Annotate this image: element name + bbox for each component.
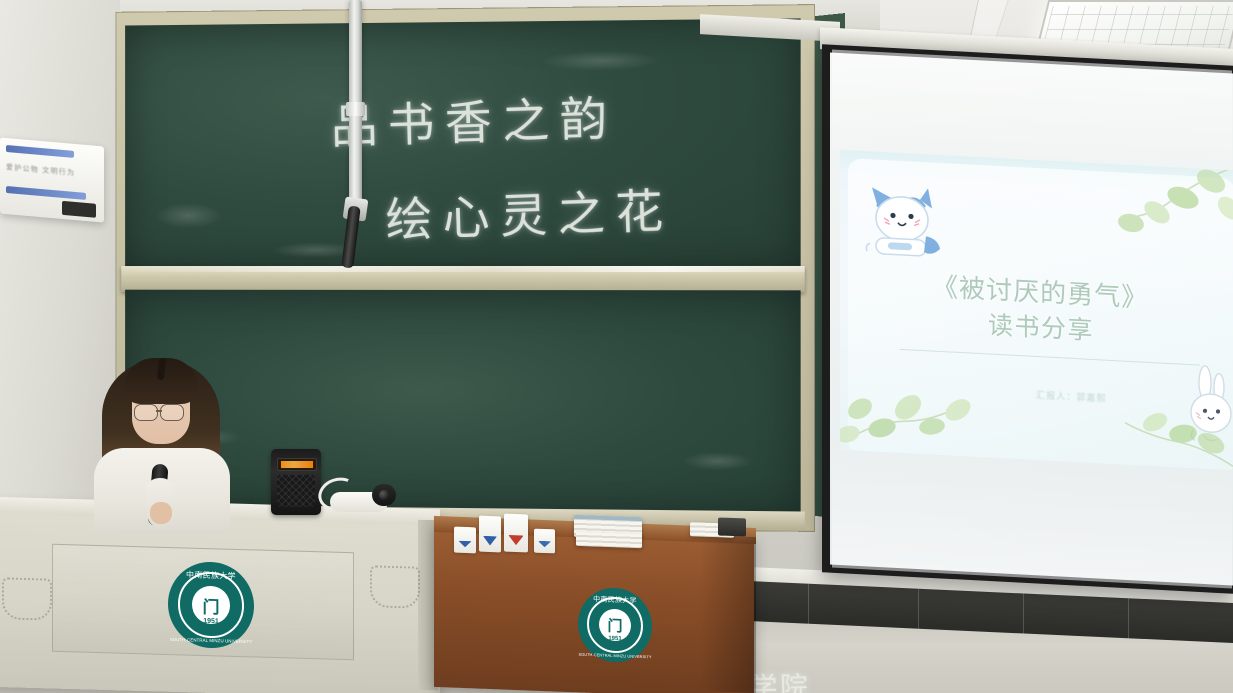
lectern-shadow (700, 535, 756, 693)
carton-item (534, 529, 555, 554)
wall-device-label: 爱护公物 文明行为 (6, 162, 98, 180)
speaker-grille (277, 475, 315, 507)
webcam[interactable] (372, 484, 396, 506)
carton-item (454, 527, 476, 554)
glasses-right-lens (160, 404, 184, 421)
speaker-display (277, 458, 317, 471)
book-stack (576, 532, 642, 548)
portable-pa-speaker[interactable] (271, 449, 321, 515)
blackboard-upper-panel: 品书香之韵 绘心灵之花 (125, 18, 801, 270)
vent-grille (62, 201, 96, 218)
chalk-rail-middle (121, 266, 805, 292)
carton-item (504, 514, 528, 553)
carton-item (479, 516, 501, 553)
glasses-bridge (156, 410, 162, 412)
glasses-left-lens (134, 404, 158, 421)
wall-control-box[interactable]: 爱护公物 文明行为 (0, 137, 104, 222)
presentation-slide: 《被讨厌的勇气》 读书分享 汇报人：郭嘉熙 (840, 150, 1233, 471)
boom-collar (346, 102, 365, 116)
desk-dotted-motif (2, 577, 52, 620)
chalkboard-line-2: 绘心灵之花 (384, 172, 674, 251)
leaf-vine-bottom-right (1113, 372, 1233, 470)
cat-icon (862, 181, 948, 264)
hand (150, 502, 172, 524)
desk-dotted-motif (370, 565, 420, 608)
presenter (88, 352, 236, 527)
chalkboard-line-1: 品书香之韵 (330, 79, 618, 157)
leaf-vine-left (840, 345, 986, 457)
university-emblem-lectern: 中南民族大学 SOUTH-CENTRAL MINZU UNIVERSITY 门 … (578, 587, 652, 664)
dark-object (718, 518, 746, 537)
classroom-photo: 爱护公物 文明行为 品书香之韵 绘心灵之花 十月读书分享会 生物医学工程学院 2… (0, 0, 1233, 693)
